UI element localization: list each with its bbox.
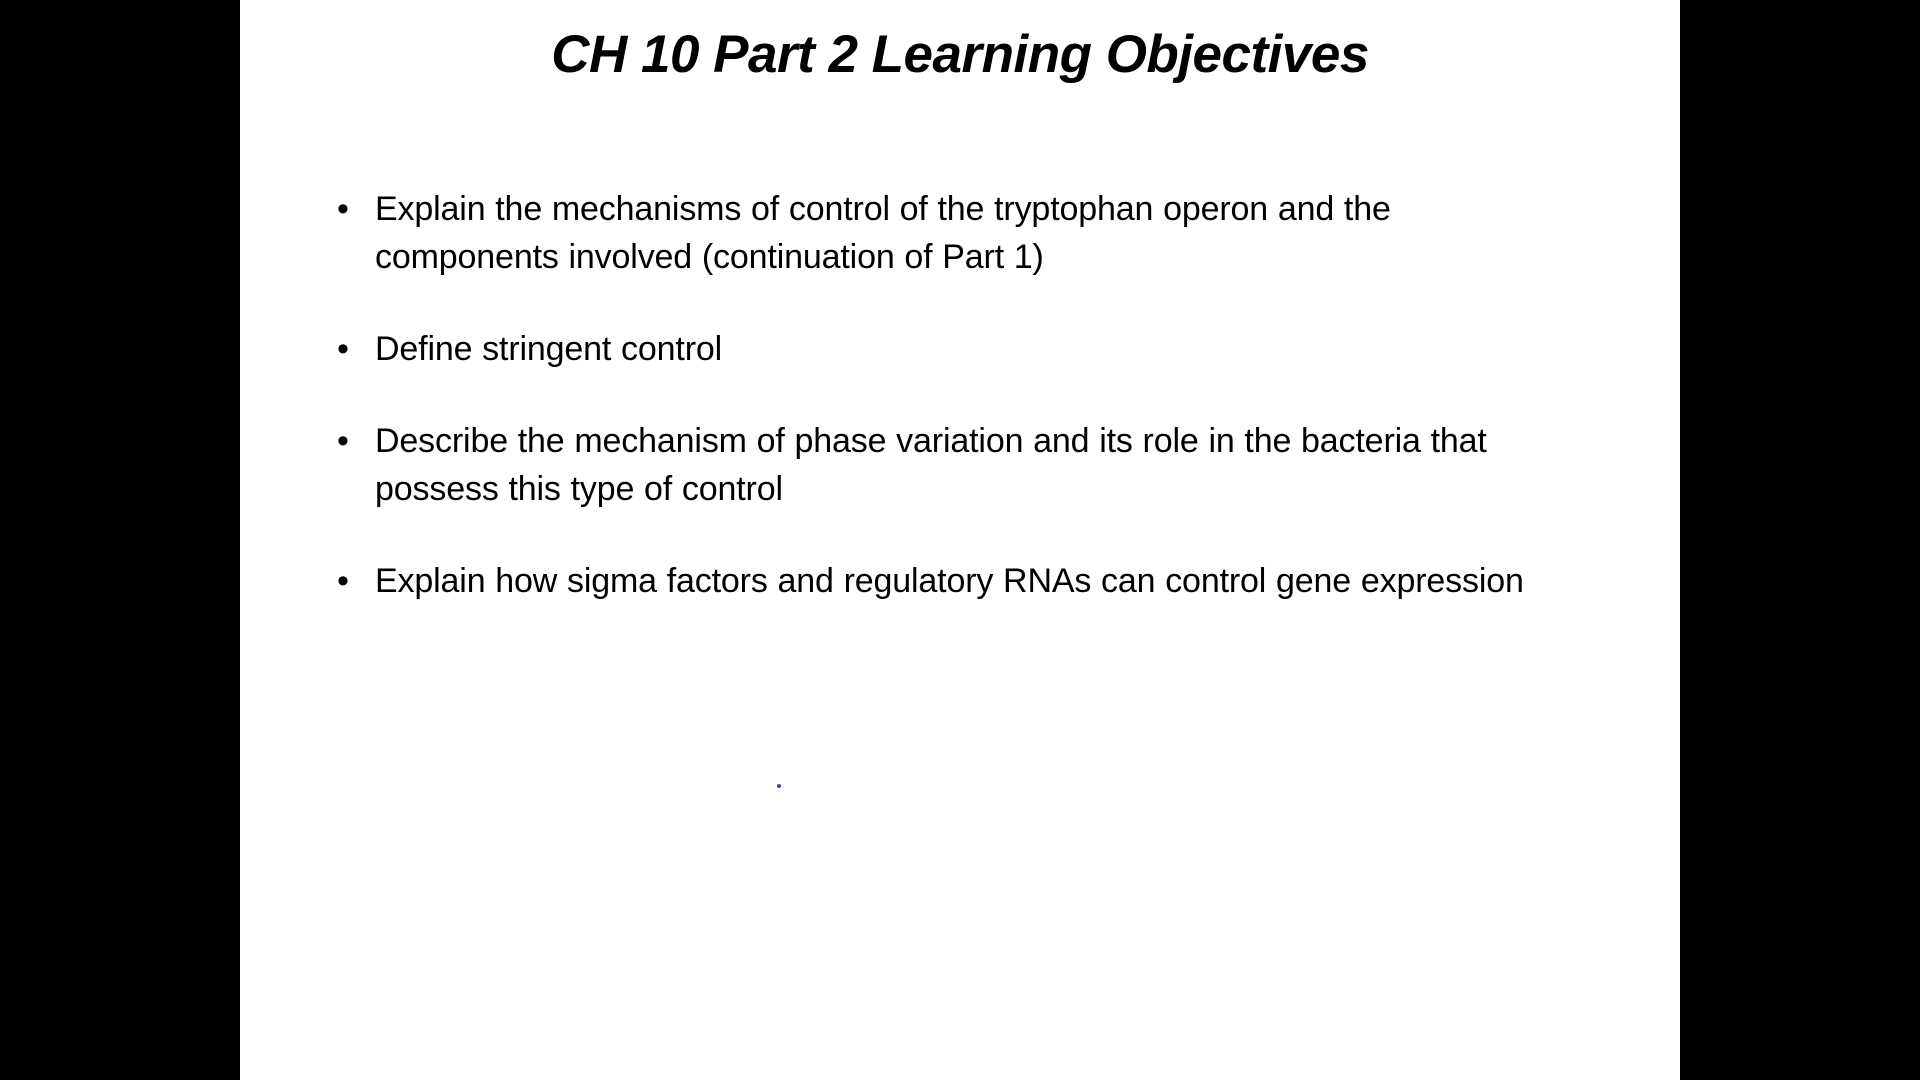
bullet-text: Explain how sigma factors and regulatory… (375, 557, 1548, 605)
slide-canvas: CH 10 Part 2 Learning Objectives • Expla… (240, 0, 1680, 1080)
presentation-viewport: CH 10 Part 2 Learning Objectives • Expla… (0, 0, 1920, 1080)
slide-body: • Explain the mechanisms of control of t… (333, 185, 1548, 649)
bullet-text: Explain the mechanisms of control of the… (375, 185, 1548, 281)
bullet-text: Describe the mechanism of phase variatio… (375, 417, 1548, 513)
slide-title: CH 10 Part 2 Learning Objectives (240, 24, 1680, 86)
bullet-point-icon: • (333, 185, 375, 233)
bullet-point-icon: • (333, 417, 375, 465)
letterbox-right (1680, 0, 1920, 1080)
list-item: • Explain the mechanisms of control of t… (333, 185, 1548, 281)
letterbox-left (0, 0, 240, 1080)
list-item: • Describe the mechanism of phase variat… (333, 417, 1548, 513)
list-item: • Explain how sigma factors and regulato… (333, 557, 1548, 605)
bullet-point-icon: • (333, 557, 375, 605)
bullet-point-icon: • (333, 325, 375, 373)
bullet-text: Define stringent control (375, 325, 1548, 373)
stray-mark (777, 784, 781, 788)
list-item: • Define stringent control (333, 325, 1548, 373)
